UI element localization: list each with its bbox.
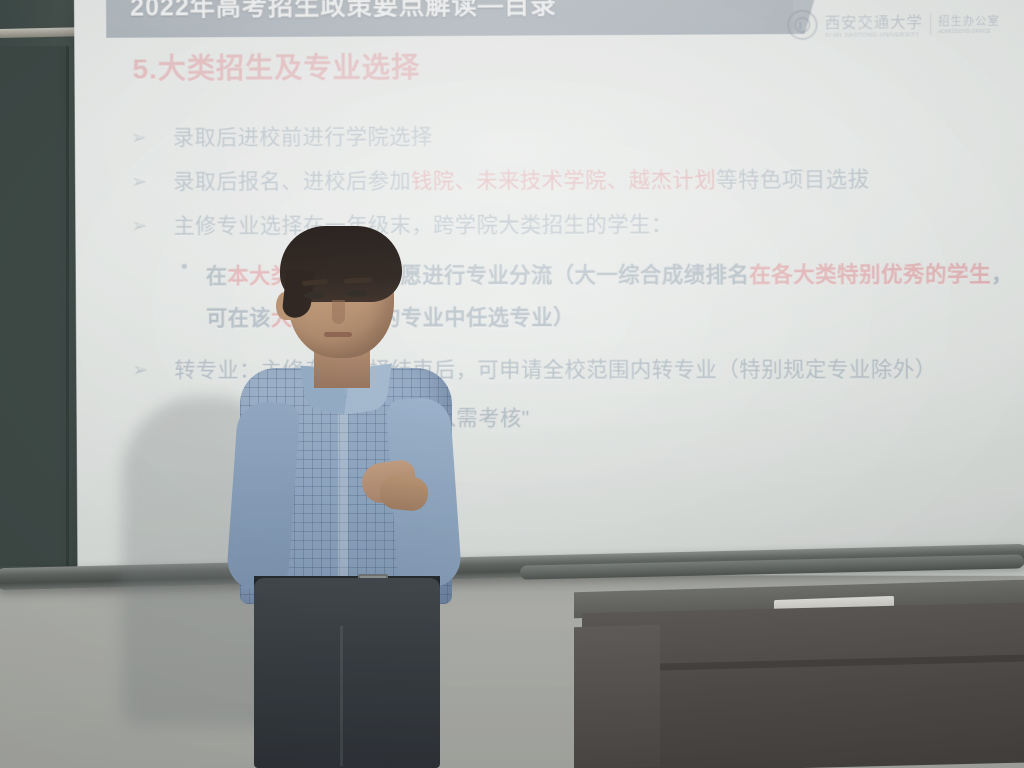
speaker-left-arm (226, 400, 301, 592)
bullet-segment: 录取后报名、进校后参加 (173, 170, 411, 194)
speaker-mouth (324, 332, 352, 337)
lecture-podium (574, 586, 1024, 768)
sub-bullet-dot-icon (182, 264, 187, 269)
bullet-arrow-icon: ➢ (131, 171, 147, 194)
sub-segment-highlight: 在各大类特别优秀的学生 (749, 263, 991, 287)
slide-title: 2022年高考招生政策要点解读—目录 (130, 0, 838, 24)
speaker-eye-left (304, 292, 324, 299)
bullet-segment-highlight: 钱院、未来技术学院、越杰计划 (411, 169, 716, 193)
bullet-item: ➢ 录取后报名、进校后参加钱院、未来技术学院、越杰计划等特色项目选拔 (121, 164, 1024, 197)
slide-section-heading: 5.大类招生及专业选择 (132, 46, 420, 88)
shirt-placket (338, 402, 348, 602)
sub-segment: 在 (206, 265, 228, 288)
logo-office-name-en: ADMISSIONS OFFICE (938, 29, 1000, 35)
bullet-arrow-icon: ➢ (131, 215, 147, 238)
bullet-segment: 录取后进校前进行学院选择 (173, 125, 433, 149)
bullet-arrow-icon: ➢ (131, 127, 147, 150)
speaker-eye-right (346, 290, 368, 297)
university-logo: 西安交通大学 XI'AN JIAOTONG UNIVERSITY 招生办公室 A… (787, 9, 1000, 41)
bullet-segment: 等特色项目选拔 (716, 168, 870, 192)
bullet-item: ➢ 录取后进校前进行学院选择 (121, 120, 1024, 154)
speaker-trousers (254, 578, 440, 768)
speaker-person (232, 226, 492, 768)
logo-divider (930, 13, 931, 35)
logo-university-name: 西安交通大学 (825, 11, 923, 33)
lecture-hall-photo: 2022年高考招生政策要点解读—目录 西安交通大学 XI'AN JIAOTONG… (0, 0, 1024, 768)
bullet-arrow-icon: ➢ (132, 359, 148, 382)
bullet-text: 录取后进校前进行学院选择 (173, 120, 1024, 154)
podium-side-step (574, 625, 660, 768)
speaker-hair (280, 226, 402, 302)
blackboard-panel (0, 46, 69, 566)
logo-office-name: 招生办公室 (938, 13, 1000, 30)
university-seal-icon (787, 10, 818, 40)
trouser-crease (340, 626, 343, 766)
logo-university-name-en: XI'AN JIAOTONG UNIVERSITY (825, 32, 923, 39)
bullet-text: 录取后报名、进校后参加钱院、未来技术学院、越杰计划等特色项目选拔 (173, 164, 1024, 197)
speaker-nose (332, 300, 345, 324)
